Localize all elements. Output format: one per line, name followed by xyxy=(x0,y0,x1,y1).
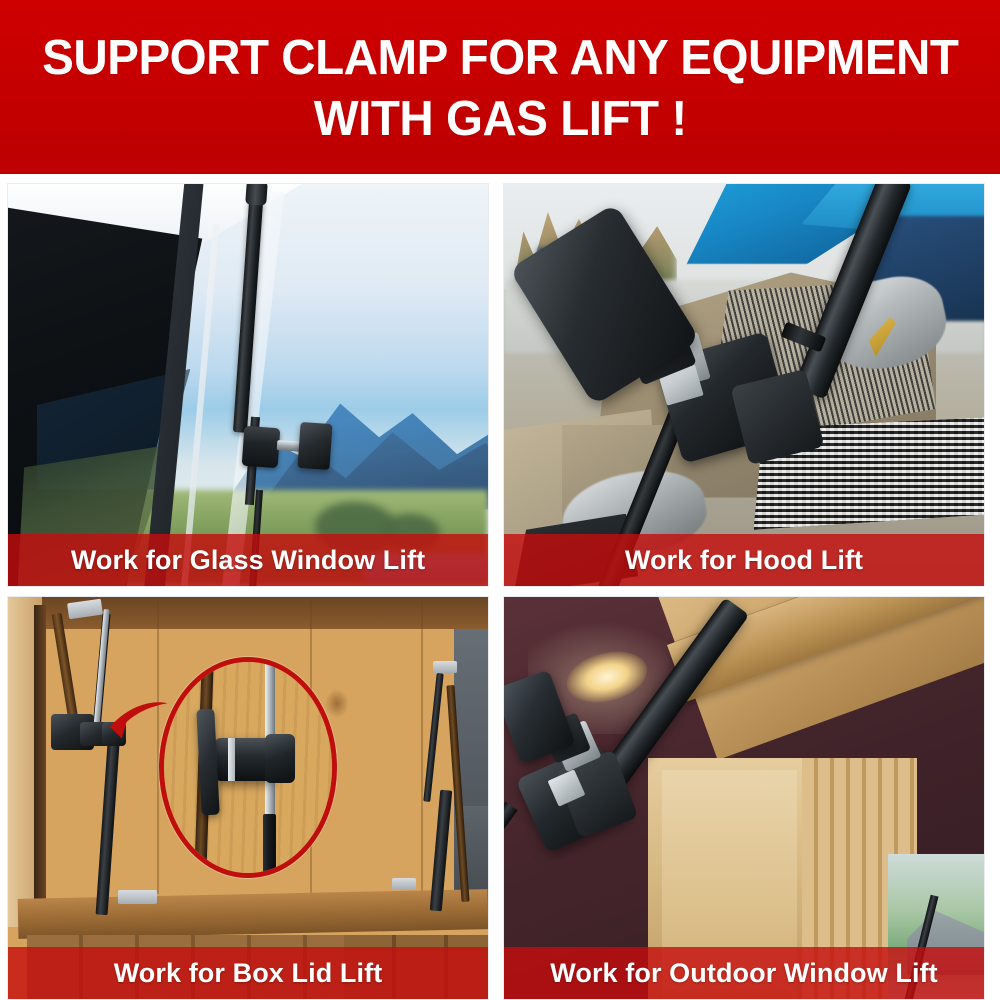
gas-strut-end-cap xyxy=(245,184,268,206)
caption-bar-box-lid-lift: Work for Box Lid Lift xyxy=(8,947,488,999)
support-clamp-body xyxy=(242,426,281,469)
header-title-line-1: SUPPORT CLAMP FOR ANY EQUIPMENT xyxy=(42,34,958,83)
caption-bar-hood-lift: Work for Hood Lift xyxy=(504,534,984,586)
magnified-clamp-ring xyxy=(228,738,235,780)
caption-label: Work for Hood Lift xyxy=(625,545,863,576)
callout-arrow-icon xyxy=(99,698,176,750)
panel-hood-lift: Work for Hood Lift xyxy=(503,183,985,587)
caption-label: Work for Outdoor Window Lift xyxy=(550,958,937,989)
lid-left-shadow xyxy=(34,605,46,927)
caption-label: Work for Box Lid Lift xyxy=(114,958,383,989)
scene-box-lid-lift xyxy=(8,597,488,999)
plank-seam xyxy=(421,597,423,894)
strut-mount-bracket-right xyxy=(433,661,457,673)
hinge-plate xyxy=(118,890,156,904)
clamp-knob xyxy=(297,422,332,470)
panel-box-lid-lift: Work for Box Lid Lift xyxy=(7,596,489,1000)
magnified-clamp-collar xyxy=(265,734,295,783)
panel-glass-window-lift: Work for Glass Window Lift xyxy=(7,183,489,587)
magnified-strut-cylinder xyxy=(263,814,276,878)
caption-label: Work for Glass Window Lift xyxy=(71,545,425,576)
panel-outdoor-window-lift: Work for Outdoor Window Lift xyxy=(503,596,985,1000)
caption-bar-outdoor-window-lift: Work for Outdoor Window Lift xyxy=(504,947,984,999)
scene-hood-lift xyxy=(504,184,984,586)
hinge-plate xyxy=(392,878,416,890)
caption-bar-glass-window-lift: Work for Glass Window Lift xyxy=(8,534,488,586)
header-banner: SUPPORT CLAMP FOR ANY EQUIPMENT WITH GAS… xyxy=(0,0,1000,174)
magnifier-callout-circle xyxy=(159,657,337,878)
panel-grid: Work for Glass Window Lift xyxy=(7,183,984,1000)
scene-glass-window-lift xyxy=(8,184,488,586)
scene-outdoor-window-lift xyxy=(504,597,984,999)
header-title-line-2: WITH GAS LIFT ! xyxy=(314,95,687,144)
product-infographic: SUPPORT CLAMP FOR ANY EQUIPMENT WITH GAS… xyxy=(0,0,1000,1000)
